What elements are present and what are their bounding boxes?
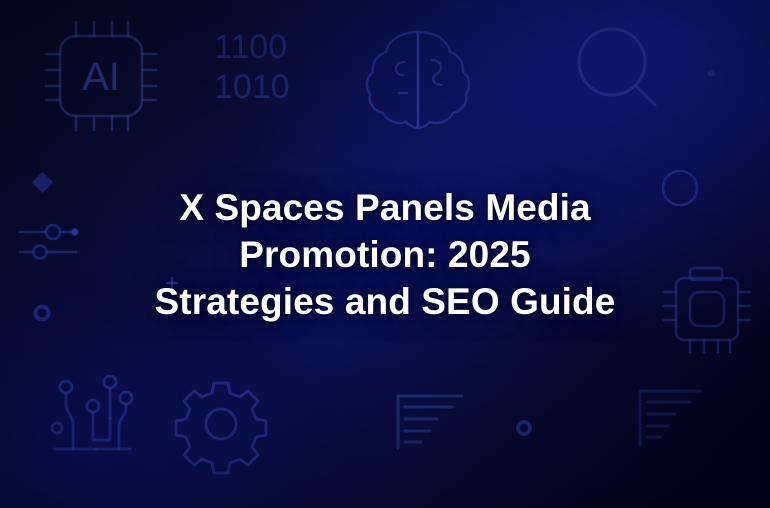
title-line-3: Strategies and SEO Guide bbox=[155, 278, 616, 325]
title-container: X Spaces Panels Media Promotion: 2025 St… bbox=[0, 0, 770, 508]
page-title: X Spaces Panels Media Promotion: 2025 St… bbox=[95, 184, 676, 325]
title-line-2: Promotion: 2025 bbox=[155, 231, 616, 278]
hero-banner: AI 1100 1010 bbox=[0, 0, 770, 508]
title-line-1: X Spaces Panels Media bbox=[155, 184, 616, 231]
